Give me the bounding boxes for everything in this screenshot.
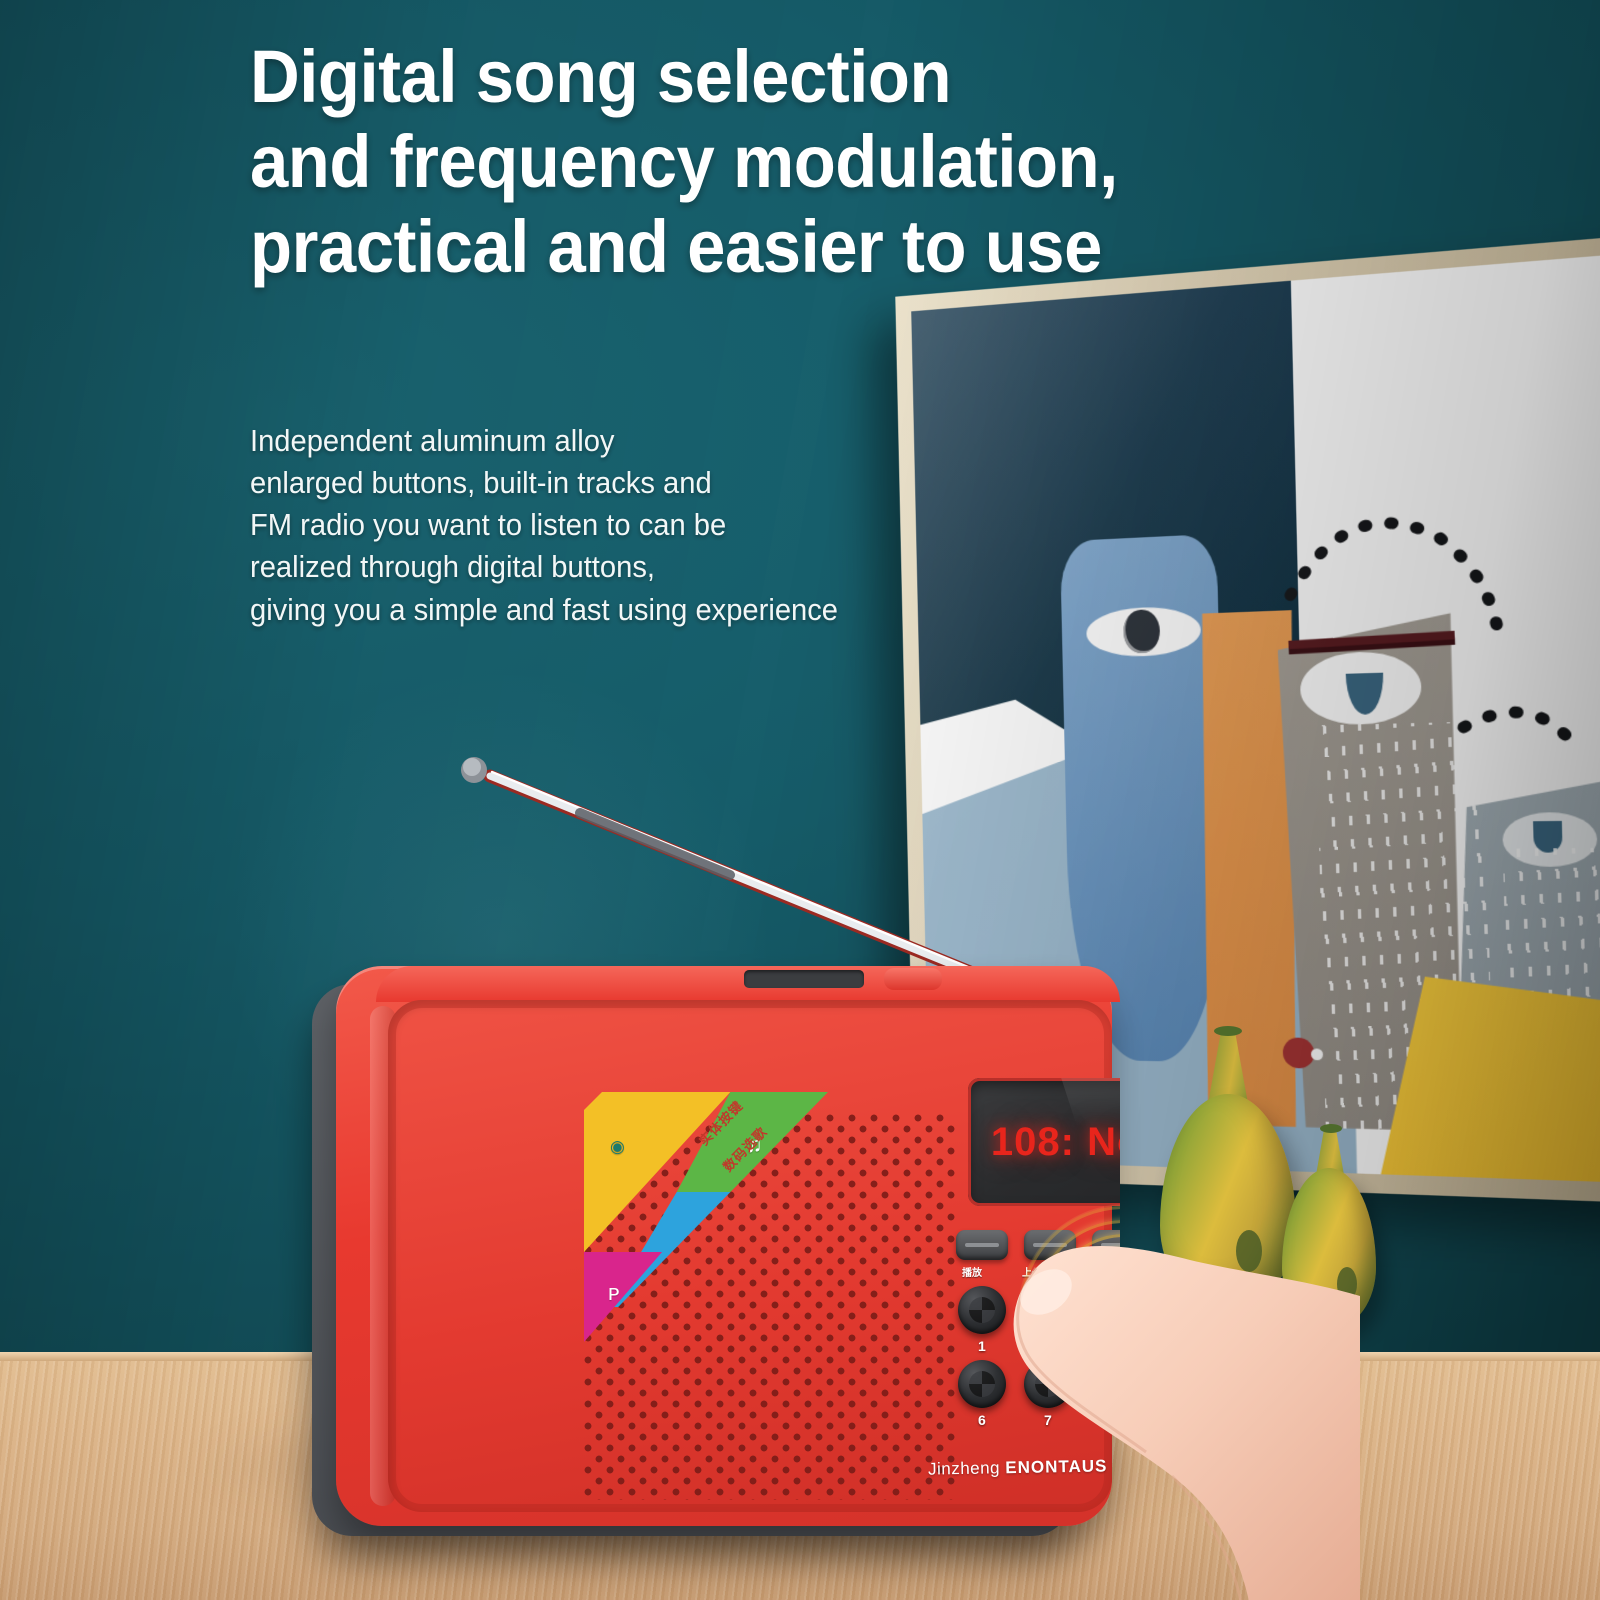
next-button[interactable] [1092,1230,1120,1260]
antenna-hinge-knob[interactable] [884,968,942,990]
headline-line-1: Digital song selection [250,34,1264,119]
play-button-label: 播放 [962,1264,982,1279]
key-1[interactable] [958,1286,1006,1334]
body-line-1: Independent aluminum alloy [250,420,964,462]
antenna-slot [744,970,864,988]
bluetooth-icon: ◉ [610,1138,625,1155]
headline-line-3: practical and easier to use [250,204,1264,289]
page-title: Digital song selection and frequency mod… [250,34,1264,289]
control-button-row: 播放 上一首 下一首 音量 [956,1230,1120,1270]
key-1-label: 1 [978,1338,986,1354]
vase-large-hole [1236,1230,1262,1272]
portable-radio[interactable]: ◉ ♫ ♩ ᴘ 实体按键 数码选歌 108: No. 28 [312,956,1112,1548]
body-line-2: enlarged buttons, built-in tracks and [250,462,964,504]
vase-small-lip [1320,1124,1342,1133]
key-2-label: 2 [1044,1338,1052,1354]
key-6-label: 6 [978,1412,986,1428]
microphone-icon: ᴘ [608,1282,619,1304]
next-button-label: 下一首 [1090,1264,1120,1279]
brand-prefix: Jinzheng [928,1458,1000,1478]
body-copy: Independent aluminum alloy enlarged butt… [250,420,964,631]
brand-name: ENONTAUS [1005,1456,1107,1477]
previous-button[interactable] [1024,1230,1076,1260]
led-display: 108: No. 28 [968,1078,1120,1206]
vase-large-lip [1214,1026,1242,1036]
key-3[interactable] [1090,1286,1120,1334]
key-8-label: 8 [1110,1412,1118,1428]
brand-label: Jinzheng ENONTAUS [928,1456,1108,1479]
body-line-5: giving you a simple and fast using exper… [250,589,964,631]
body-line-4: realized through digital buttons, [250,546,964,588]
key-7[interactable] [1024,1360,1072,1408]
scene: ◉ ♫ ♩ ᴘ 实体按键 数码选歌 108: No. 28 [0,0,1600,1600]
headline-line-2: and frequency modulation, [250,119,1264,204]
previous-button-label: 上一首 [1022,1264,1052,1279]
key-8[interactable] [1090,1360,1120,1408]
radio-front-panel: ◉ ♫ ♩ ᴘ 实体按键 数码选歌 108: No. 28 [458,1018,1120,1500]
key-7-label: 7 [1044,1412,1052,1428]
body-line-3: FM radio you want to listen to can be [250,504,964,546]
key-3-label: 3 [1110,1338,1118,1354]
numeric-keypad: 1 2 3 4 5 6 7 8 9 0 [952,1286,1120,1476]
radio-front-shell: ◉ ♫ ♩ ᴘ 实体按键 数码选歌 108: No. 28 [336,966,1112,1526]
key-2[interactable] [1024,1286,1072,1334]
vase-small-hole [1337,1267,1357,1301]
play-button[interactable] [956,1230,1008,1260]
key-6[interactable] [958,1360,1006,1408]
